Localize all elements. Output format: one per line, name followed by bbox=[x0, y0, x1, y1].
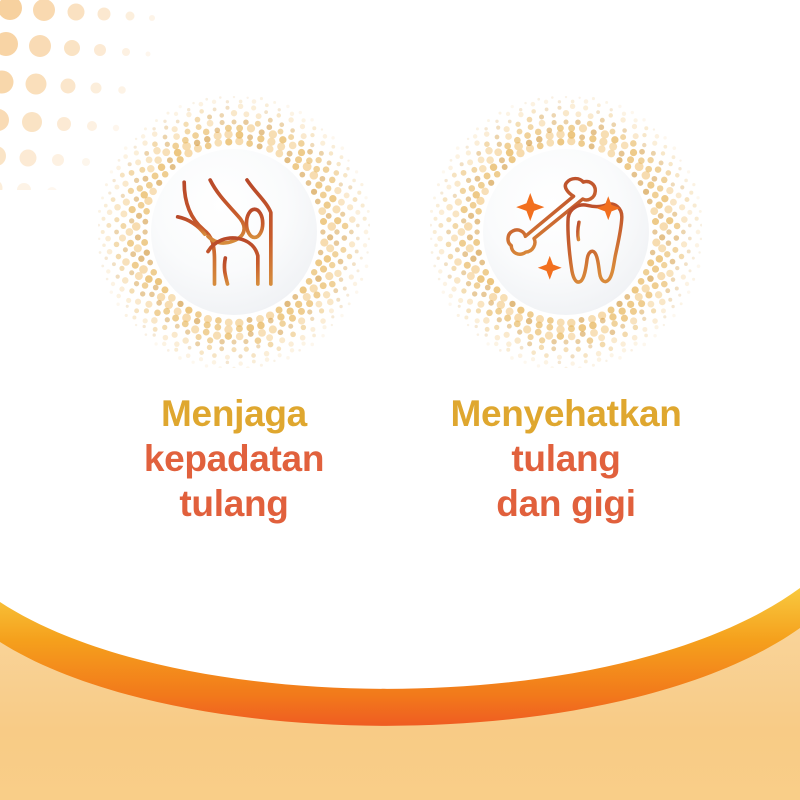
caption-line-2: kepadatan bbox=[144, 437, 324, 482]
benefit-caption-bone-density: Menjaga kepadatan tulang bbox=[144, 392, 324, 526]
poster-canvas: Menjaga kepadatan tulang bbox=[0, 0, 800, 800]
caption-line-3: dan gigi bbox=[450, 482, 681, 527]
benefit-caption-bone-and-teeth: Menyehatkan tulang dan gigi bbox=[450, 392, 681, 526]
benefit-card-bone-and-teeth[interactable]: Menyehatkan tulang dan gigi bbox=[411, 96, 721, 526]
sparkle-icon bbox=[538, 256, 562, 280]
caption-line-3: tulang bbox=[144, 482, 324, 527]
caption-line-2: tulang bbox=[450, 437, 681, 482]
bone-shape bbox=[508, 179, 595, 255]
medallion-bone-density bbox=[98, 96, 370, 368]
bone-tooth-sparkle-icon bbox=[501, 167, 631, 297]
caption-line-1: Menyehatkan bbox=[450, 392, 681, 437]
sparkle-icon bbox=[516, 193, 544, 221]
orange-wave-band bbox=[0, 580, 800, 800]
wave-stripe bbox=[0, 588, 800, 726]
medallion-bone-and-teeth bbox=[430, 96, 702, 368]
sparkle-icon bbox=[596, 196, 620, 220]
knee-joint-icon bbox=[169, 167, 299, 297]
caption-line-1: Menjaga bbox=[144, 392, 324, 437]
benefit-list: Menjaga kepadatan tulang bbox=[0, 96, 800, 526]
tooth-shape bbox=[568, 204, 622, 282]
benefit-card-bone-density[interactable]: Menjaga kepadatan tulang bbox=[79, 96, 389, 526]
wave-fill bbox=[0, 626, 800, 800]
